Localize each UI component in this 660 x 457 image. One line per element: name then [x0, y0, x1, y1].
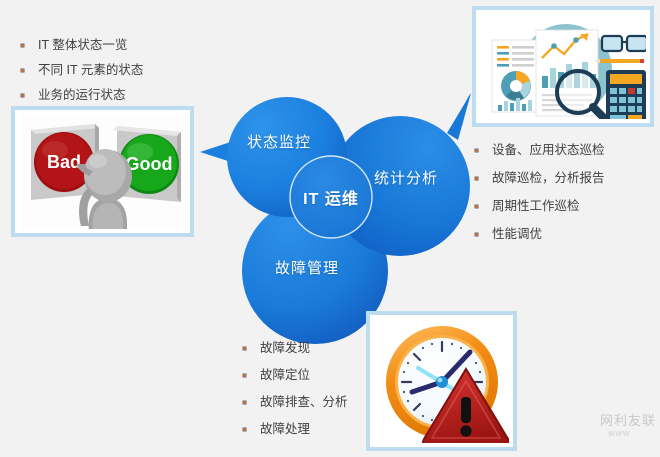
- bullet-dot-icon: [21, 44, 24, 47]
- list-item-label: 故障发现: [260, 341, 310, 355]
- photo-inner: [374, 319, 509, 443]
- bullet-dot-icon: [243, 428, 246, 431]
- bubble-label-statistical-analysis: 统计分析: [374, 167, 438, 188]
- photo-inner: [480, 14, 646, 119]
- list-item-label: 设备、应用状态巡检: [492, 143, 605, 157]
- data-analytics-illustration: [472, 6, 654, 127]
- bullet-dot-icon: [243, 347, 246, 350]
- list-fault-management: 故障发现 故障定位 故障排查、分析 故障处理: [240, 341, 348, 449]
- list-item: IT 整体状态一览: [18, 38, 143, 53]
- list-item: 周期性工作巡检: [472, 199, 605, 214]
- list-item: 故障定位: [240, 368, 348, 383]
- list-item: 故障发现: [240, 341, 348, 356]
- list-item: 故障处理: [240, 422, 348, 437]
- list-item-label: 不同 IT 元素的状态: [38, 63, 143, 77]
- bullet-dot-icon: [475, 177, 478, 180]
- list-item-label: 业务的运行状态: [38, 88, 126, 102]
- bad-good-buttons-graphic: Bad Good: [19, 114, 186, 229]
- list-item-label: 故障巡检，分析报告: [492, 171, 605, 185]
- bubble-label-status-monitoring: 状态监控: [247, 131, 311, 152]
- bad-good-buttons-photo: Bad Good: [11, 106, 194, 237]
- bullet-dot-icon: [21, 94, 24, 97]
- pencil-icon: [594, 59, 644, 63]
- list-item: 不同 IT 元素的状态: [18, 63, 143, 78]
- list-status-monitoring: IT 整体状态一览 不同 IT 元素的状态 业务的运行状态: [18, 38, 143, 113]
- watermark-url: www: [608, 428, 631, 438]
- bullet-dot-icon: [475, 205, 478, 208]
- photo-inner: Bad Good: [19, 114, 186, 229]
- list-item-label: 故障处理: [260, 422, 310, 436]
- good-label: Good: [126, 154, 173, 174]
- list-item-label: 故障排查、分析: [260, 395, 348, 409]
- bubble-label-fault-management: 故障管理: [275, 257, 339, 278]
- calculator-icon: [606, 70, 646, 119]
- bullet-dot-icon: [475, 233, 478, 236]
- center-label: IT 运维: [293, 185, 369, 209]
- watermark-text: 网利友联: [600, 410, 656, 429]
- bullet-dot-icon: [21, 69, 24, 72]
- bullet-dot-icon: [475, 149, 478, 152]
- list-item: 业务的运行状态: [18, 88, 143, 103]
- bad-label: Bad: [47, 152, 81, 172]
- list-item-label: 周期性工作巡检: [492, 199, 580, 213]
- list-item-label: 性能调优: [492, 227, 542, 241]
- bullet-dot-icon: [243, 374, 246, 377]
- list-item-label: 故障定位: [260, 368, 310, 382]
- list-item: 设备、应用状态巡检: [472, 143, 605, 158]
- bullet-dot-icon: [243, 401, 246, 404]
- list-item: 故障巡检，分析报告: [472, 171, 605, 186]
- clock-warning-illustration: [366, 311, 517, 451]
- list-item: 性能调优: [472, 227, 605, 242]
- list-item: 故障排查、分析: [240, 395, 348, 410]
- clock-warning-graphic: [374, 319, 509, 443]
- diagram-canvas: 状态监控 统计分析 故障管理 IT 运维 IT 整体状态一览 不同 IT 元素的…: [0, 0, 660, 457]
- analytics-graphic: [480, 14, 646, 119]
- list-statistical-analysis: 设备、应用状态巡检 故障巡检，分析报告 周期性工作巡检 性能调优: [472, 143, 605, 255]
- list-item-label: IT 整体状态一览: [38, 38, 127, 52]
- pie-chart-document: [492, 40, 540, 112]
